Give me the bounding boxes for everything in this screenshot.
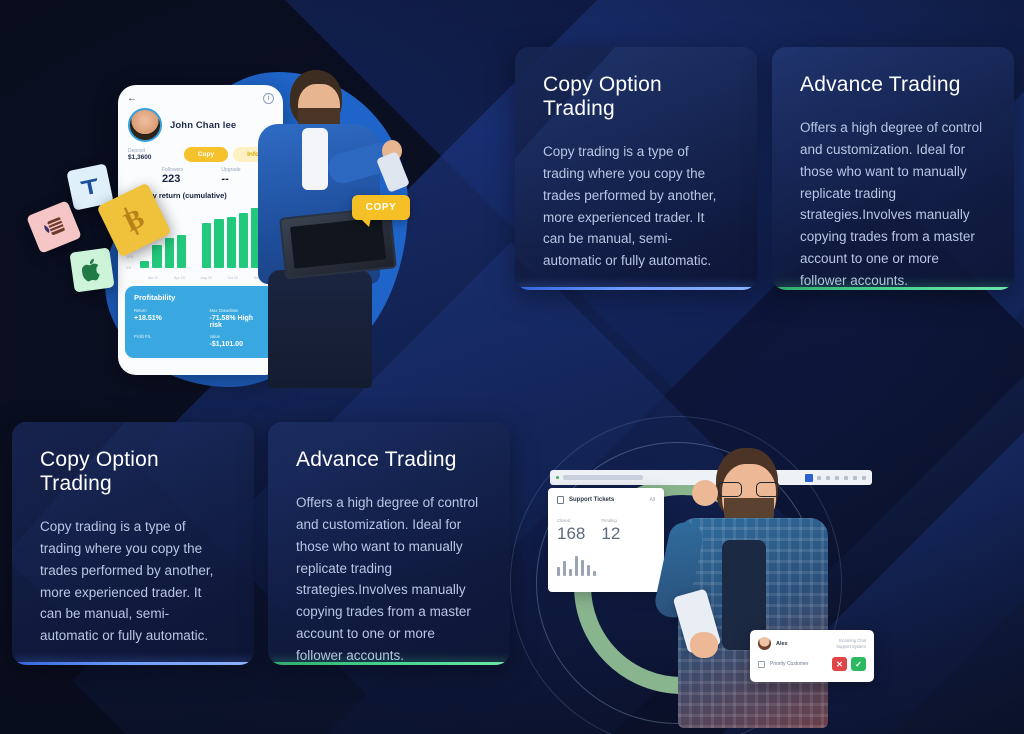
stat-followers: Followers 223 bbox=[162, 167, 183, 185]
chart-bar bbox=[177, 235, 186, 268]
chat-card-footer: Priority Customer ✕ ✓ bbox=[758, 657, 866, 671]
mini-chart-bar bbox=[563, 561, 566, 576]
chart-x-tick: Aug 20 bbox=[200, 276, 211, 280]
support-mini-chart bbox=[557, 556, 655, 576]
profit-return: Return +18.51% bbox=[134, 308, 192, 329]
decline-call-button[interactable]: ✕ bbox=[832, 657, 847, 671]
chart-y-tick: 10% bbox=[126, 255, 133, 259]
copy-badge: COPY bbox=[352, 195, 410, 220]
back-arrow-icon[interactable]: ← bbox=[127, 93, 137, 104]
chart-bar bbox=[152, 245, 161, 268]
support-illustration: Support Tickets All Closed 168 Pending 1… bbox=[528, 438, 898, 734]
avatar bbox=[128, 108, 162, 142]
trader-name: John Chan lee bbox=[170, 120, 236, 131]
chat-actions: ✕ ✓ bbox=[832, 657, 866, 671]
held-phone bbox=[376, 151, 410, 193]
card-title: Advance Trading bbox=[800, 73, 986, 97]
stat-value: 168 bbox=[557, 525, 585, 542]
svg-text:B: B bbox=[119, 203, 148, 238]
stat-label: Pending bbox=[601, 518, 620, 523]
support-tickets-title: Support Tickets bbox=[569, 497, 614, 503]
page-root: ← i John Chan lee Deposit $1,3600 Copy I… bbox=[0, 0, 1024, 734]
oil-tile-icon bbox=[26, 200, 82, 254]
toolbar-icon[interactable] bbox=[862, 476, 866, 480]
trader-person bbox=[232, 62, 410, 382]
card-body: Copy trading is a type of trading where … bbox=[40, 516, 226, 647]
filter-all-link[interactable]: All bbox=[649, 497, 655, 503]
chat-card-header: Alex Incoming Chat Support System bbox=[758, 637, 866, 650]
stat-label: Closed bbox=[557, 518, 585, 523]
glasses-icon bbox=[718, 482, 780, 497]
mini-chart-bar bbox=[587, 565, 590, 576]
card-body: Offers a high degree of control and cust… bbox=[296, 492, 482, 665]
deposit-value: $1,3600 bbox=[128, 154, 152, 161]
mini-chart-bar bbox=[575, 556, 578, 576]
card-body: Copy trading is a type of trading where … bbox=[543, 141, 729, 272]
stat-value: 12 bbox=[601, 525, 620, 542]
support-tickets-stats: Closed 168 Pending 12 bbox=[557, 518, 655, 542]
person-legs bbox=[268, 270, 372, 388]
chat-meta-line-2: Support System bbox=[836, 644, 866, 650]
chart-x-tick: Apr 20 bbox=[174, 276, 185, 280]
priority-tag: Priority Customer bbox=[770, 661, 809, 667]
chart-y-tick: 0% bbox=[126, 266, 131, 270]
mini-chart-bar bbox=[569, 569, 572, 576]
stat-pending: Pending 12 bbox=[601, 518, 620, 542]
apple-tile-icon bbox=[69, 247, 114, 292]
person-hand-lower bbox=[690, 632, 718, 658]
support-person bbox=[656, 444, 846, 728]
person-shirt bbox=[302, 128, 328, 190]
ticket-icon bbox=[557, 496, 564, 504]
mini-chart-bar bbox=[593, 571, 596, 576]
chat-meta: Incoming Chat Support System bbox=[836, 638, 866, 649]
mini-chart-bar bbox=[581, 560, 584, 576]
card-body: Offers a high degree of control and cust… bbox=[800, 117, 986, 290]
card-title: Advance Trading bbox=[296, 448, 482, 472]
person-hand-upper bbox=[692, 480, 718, 506]
mini-chart-bar bbox=[557, 567, 560, 576]
accept-call-button[interactable]: ✓ bbox=[851, 657, 866, 671]
chart-x-tick: Apr 20 bbox=[148, 276, 159, 280]
feature-card-advance-trading-top[interactable]: Advance Trading Offers a high degree of … bbox=[772, 47, 1014, 290]
chat-meta-line-1: Incoming Chat bbox=[836, 638, 866, 644]
trader-illustration: ← i John Chan lee Deposit $1,3600 Copy I… bbox=[10, 52, 430, 392]
feature-card-advance-trading-bottom[interactable]: Advance Trading Offers a high degree of … bbox=[268, 422, 510, 665]
profit-pl: Profit P/L bbox=[134, 334, 192, 348]
browser-url-bar[interactable] bbox=[563, 475, 643, 480]
card-title: Copy Option Trading bbox=[543, 73, 729, 121]
bell-icon bbox=[758, 661, 765, 668]
stat-closed: Closed 168 bbox=[557, 518, 585, 542]
card-title: Copy Option Trading bbox=[40, 448, 226, 496]
feature-card-copy-option-trading-top[interactable]: Copy Option Trading Copy trading is a ty… bbox=[515, 47, 757, 290]
chart-bar bbox=[165, 238, 174, 268]
feature-card-copy-option-trading-bottom[interactable]: Copy Option Trading Copy trading is a ty… bbox=[12, 422, 254, 665]
copy-button[interactable]: Copy bbox=[184, 147, 228, 162]
browser-dot-icon bbox=[556, 476, 559, 479]
stat-value: 223 bbox=[162, 173, 183, 185]
support-tickets-header: Support Tickets All bbox=[557, 496, 655, 504]
incoming-chat-card[interactable]: Alex Incoming Chat Support System Priori… bbox=[750, 630, 874, 682]
chart-bar bbox=[214, 219, 223, 268]
toolbar-icon[interactable] bbox=[853, 476, 857, 480]
profit-label: Profit P/L bbox=[134, 334, 192, 339]
profit-value: +18.51% bbox=[134, 315, 192, 322]
support-tickets-card: Support Tickets All Closed 168 Pending 1… bbox=[548, 488, 664, 592]
profit-label: Return bbox=[134, 308, 192, 313]
chart-bar bbox=[202, 223, 211, 268]
avatar bbox=[758, 637, 771, 650]
chat-contact-name: Alex bbox=[776, 641, 788, 647]
chart-bar bbox=[140, 261, 149, 268]
